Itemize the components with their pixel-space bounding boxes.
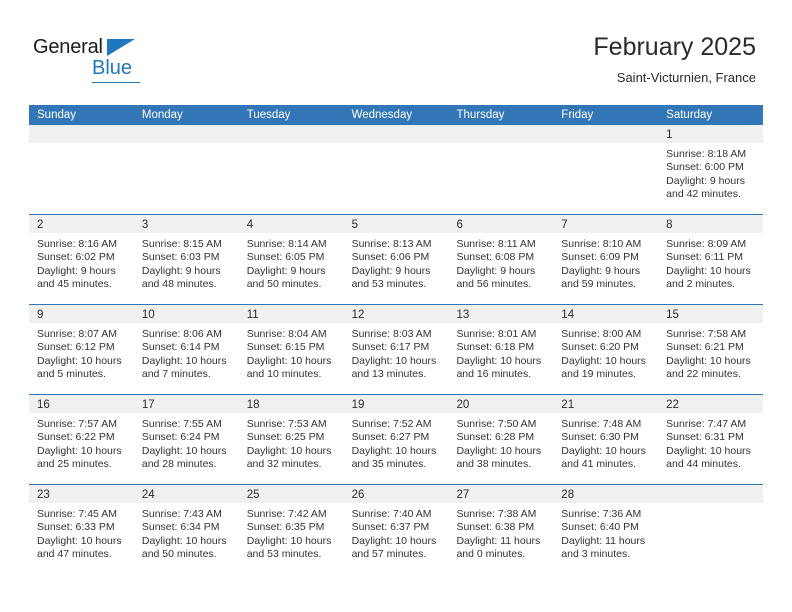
day-number: 26 (352, 489, 365, 501)
sunset-text: Sunset: 6:00 PM (666, 161, 757, 174)
day-sun-info: Sunrise: 7:57 AMSunset: 6:22 PMDaylight:… (29, 413, 134, 472)
day-number: 9 (37, 309, 43, 321)
calendar-day-cell[interactable]: 17Sunrise: 7:55 AMSunset: 6:24 PMDayligh… (134, 395, 239, 484)
calendar-day-cell[interactable]: 15Sunrise: 7:58 AMSunset: 6:21 PMDayligh… (658, 305, 763, 394)
day-number-band: 17 (134, 395, 239, 413)
daylight-text-line2: and 41 minutes. (561, 458, 652, 471)
calendar-weeks: 1Sunrise: 8:18 AMSunset: 6:00 PMDaylight… (29, 125, 763, 574)
daylight-text-line2: and 13 minutes. (352, 368, 443, 381)
calendar-day-cell[interactable]: 25Sunrise: 7:42 AMSunset: 6:35 PMDayligh… (239, 485, 344, 574)
sunset-text: Sunset: 6:09 PM (561, 251, 652, 264)
daylight-text-line1: Daylight: 9 hours (666, 175, 757, 188)
day-sun-info: Sunrise: 7:55 AMSunset: 6:24 PMDaylight:… (134, 413, 239, 472)
day-number-band (134, 125, 239, 143)
day-number-band: 12 (344, 305, 449, 323)
day-number: 16 (37, 399, 50, 411)
daylight-text-line1: Daylight: 10 hours (561, 355, 652, 368)
daylight-text-line1: Daylight: 10 hours (37, 445, 128, 458)
day-sun-info: Sunrise: 7:47 AMSunset: 6:31 PMDaylight:… (658, 413, 763, 472)
day-sun-info: Sunrise: 7:52 AMSunset: 6:27 PMDaylight:… (344, 413, 449, 472)
sunrise-text: Sunrise: 7:50 AM (456, 418, 547, 431)
sunset-text: Sunset: 6:31 PM (666, 431, 757, 444)
daylight-text-line1: Daylight: 11 hours (456, 535, 547, 548)
daylight-text-line2: and 32 minutes. (247, 458, 338, 471)
general-blue-logo[interactable]: General Blue (33, 36, 153, 86)
day-sun-info: Sunrise: 7:50 AMSunset: 6:28 PMDaylight:… (448, 413, 553, 472)
day-number-band: 2 (29, 215, 134, 233)
daylight-text-line2: and 53 minutes. (247, 548, 338, 561)
day-sun-info: Sunrise: 8:03 AMSunset: 6:17 PMDaylight:… (344, 323, 449, 382)
day-number-band: 20 (448, 395, 553, 413)
day-number-band: 8 (658, 215, 763, 233)
day-number-band: 10 (134, 305, 239, 323)
calendar-day-cell[interactable]: 2Sunrise: 8:16 AMSunset: 6:02 PMDaylight… (29, 215, 134, 304)
sunset-text: Sunset: 6:35 PM (247, 521, 338, 534)
day-number: 17 (142, 399, 155, 411)
sunrise-text: Sunrise: 7:42 AM (247, 508, 338, 521)
daylight-text-line2: and 16 minutes. (456, 368, 547, 381)
sunrise-text: Sunrise: 8:06 AM (142, 328, 233, 341)
weekday-header-tuesday: Tuesday (239, 105, 344, 125)
sunset-text: Sunset: 6:28 PM (456, 431, 547, 444)
sunrise-text: Sunrise: 7:48 AM (561, 418, 652, 431)
daylight-text-line2: and 48 minutes. (142, 278, 233, 291)
day-number: 11 (247, 309, 259, 321)
day-sun-info: Sunrise: 7:36 AMSunset: 6:40 PMDaylight:… (553, 503, 658, 562)
calendar-week-row: 9Sunrise: 8:07 AMSunset: 6:12 PMDaylight… (29, 304, 763, 394)
sunrise-text: Sunrise: 7:47 AM (666, 418, 757, 431)
calendar-day-cell[interactable]: 22Sunrise: 7:47 AMSunset: 6:31 PMDayligh… (658, 395, 763, 484)
daylight-text-line1: Daylight: 10 hours (142, 535, 233, 548)
daylight-text-line1: Daylight: 11 hours (561, 535, 652, 548)
day-sun-info: Sunrise: 8:16 AMSunset: 6:02 PMDaylight:… (29, 233, 134, 292)
daylight-text-line2: and 47 minutes. (37, 548, 128, 561)
weekday-header-saturday: Saturday (658, 105, 763, 125)
day-sun-info: Sunrise: 8:00 AMSunset: 6:20 PMDaylight:… (553, 323, 658, 382)
calendar-day-cell[interactable]: 13Sunrise: 8:01 AMSunset: 6:18 PMDayligh… (448, 305, 553, 394)
day-number: 14 (561, 309, 574, 321)
day-sun-info: Sunrise: 7:58 AMSunset: 6:21 PMDaylight:… (658, 323, 763, 382)
day-number-band: 13 (448, 305, 553, 323)
sunrise-text: Sunrise: 8:15 AM (142, 238, 233, 251)
calendar-day-cell[interactable]: 5Sunrise: 8:13 AMSunset: 6:06 PMDaylight… (344, 215, 449, 304)
daylight-text-line1: Daylight: 9 hours (142, 265, 233, 278)
day-number: 6 (456, 219, 462, 231)
daylight-text-line2: and 57 minutes. (352, 548, 443, 561)
day-sun-info: Sunrise: 8:14 AMSunset: 6:05 PMDaylight:… (239, 233, 344, 292)
sunrise-text: Sunrise: 8:07 AM (37, 328, 128, 341)
sunrise-text: Sunrise: 7:55 AM (142, 418, 233, 431)
day-number: 2 (37, 219, 43, 231)
calendar-day-cell[interactable]: 28Sunrise: 7:36 AMSunset: 6:40 PMDayligh… (553, 485, 658, 574)
calendar-day-cell[interactable]: 9Sunrise: 8:07 AMSunset: 6:12 PMDaylight… (29, 305, 134, 394)
logo-word-general: General (33, 36, 103, 59)
daylight-text-line2: and 42 minutes. (666, 188, 757, 201)
daylight-text-line1: Daylight: 10 hours (456, 445, 547, 458)
day-number: 19 (352, 399, 365, 411)
day-sun-info: Sunrise: 7:48 AMSunset: 6:30 PMDaylight:… (553, 413, 658, 472)
sunrise-text: Sunrise: 7:45 AM (37, 508, 128, 521)
daylight-text-line2: and 7 minutes. (142, 368, 233, 381)
daylight-text-line2: and 28 minutes. (142, 458, 233, 471)
day-sun-info: Sunrise: 7:53 AMSunset: 6:25 PMDaylight:… (239, 413, 344, 472)
calendar-day-cell[interactable]: 24Sunrise: 7:43 AMSunset: 6:34 PMDayligh… (134, 485, 239, 574)
day-number-band: 1 (658, 125, 763, 143)
calendar-day-cell[interactable]: 12Sunrise: 8:03 AMSunset: 6:17 PMDayligh… (344, 305, 449, 394)
logo-word-blue: Blue (92, 57, 132, 80)
daylight-text-line2: and 19 minutes. (561, 368, 652, 381)
day-number: 4 (247, 219, 253, 231)
sunset-text: Sunset: 6:14 PM (142, 341, 233, 354)
daylight-text-line1: Daylight: 10 hours (352, 355, 443, 368)
sunset-text: Sunset: 6:22 PM (37, 431, 128, 444)
day-sun-info: Sunrise: 8:04 AMSunset: 6:15 PMDaylight:… (239, 323, 344, 382)
daylight-text-line1: Daylight: 9 hours (456, 265, 547, 278)
daylight-text-line2: and 45 minutes. (37, 278, 128, 291)
daylight-text-line1: Daylight: 10 hours (352, 535, 443, 548)
calendar-page: General Blue February 2025 Saint-Victurn… (0, 0, 792, 612)
daylight-text-line1: Daylight: 10 hours (247, 445, 338, 458)
calendar-day-cell[interactable]: 4Sunrise: 8:14 AMSunset: 6:05 PMDaylight… (239, 215, 344, 304)
sunrise-text: Sunrise: 7:57 AM (37, 418, 128, 431)
calendar-day-cell-empty (239, 125, 344, 214)
calendar-day-cell[interactable]: 7Sunrise: 8:10 AMSunset: 6:09 PMDaylight… (553, 215, 658, 304)
sunset-text: Sunset: 6:27 PM (352, 431, 443, 444)
day-number: 15 (666, 309, 679, 321)
sunrise-text: Sunrise: 8:13 AM (352, 238, 443, 251)
daylight-text-line2: and 38 minutes. (456, 458, 547, 471)
day-number-band (29, 125, 134, 143)
day-number: 8 (666, 219, 672, 231)
daylight-text-line1: Daylight: 10 hours (37, 535, 128, 548)
daylight-text-line1: Daylight: 10 hours (247, 355, 338, 368)
day-number: 20 (456, 399, 469, 411)
day-number: 25 (247, 489, 260, 501)
sunset-text: Sunset: 6:25 PM (247, 431, 338, 444)
daylight-text-line2: and 5 minutes. (37, 368, 128, 381)
daylight-text-line2: and 25 minutes. (37, 458, 128, 471)
sunrise-text: Sunrise: 7:43 AM (142, 508, 233, 521)
calendar-day-cell[interactable]: 10Sunrise: 8:06 AMSunset: 6:14 PMDayligh… (134, 305, 239, 394)
day-number-band: 28 (553, 485, 658, 503)
day-number: 24 (142, 489, 155, 501)
day-number-band: 7 (553, 215, 658, 233)
day-number: 7 (561, 219, 567, 231)
daylight-text-line2: and 53 minutes. (352, 278, 443, 291)
weekday-header-thursday: Thursday (448, 105, 553, 125)
calendar-day-cell[interactable]: 20Sunrise: 7:50 AMSunset: 6:28 PMDayligh… (448, 395, 553, 484)
daylight-text-line1: Daylight: 10 hours (142, 355, 233, 368)
sunset-text: Sunset: 6:02 PM (37, 251, 128, 264)
daylight-text-line1: Daylight: 10 hours (456, 355, 547, 368)
day-number-band: 3 (134, 215, 239, 233)
sunrise-text: Sunrise: 8:16 AM (37, 238, 128, 251)
calendar-week-row: 1Sunrise: 8:18 AMSunset: 6:00 PMDaylight… (29, 125, 763, 214)
weekday-header-friday: Friday (553, 105, 658, 125)
sunrise-text: Sunrise: 8:09 AM (666, 238, 757, 251)
daylight-text-line1: Daylight: 10 hours (561, 445, 652, 458)
day-number-band: 18 (239, 395, 344, 413)
weekday-header-sunday: Sunday (29, 105, 134, 125)
sunset-text: Sunset: 6:15 PM (247, 341, 338, 354)
day-sun-info: Sunrise: 7:43 AMSunset: 6:34 PMDaylight:… (134, 503, 239, 562)
daylight-text-line1: Daylight: 9 hours (352, 265, 443, 278)
calendar-grid: SundayMondayTuesdayWednesdayThursdayFrid… (29, 105, 763, 574)
day-number: 27 (456, 489, 469, 501)
sunset-text: Sunset: 6:06 PM (352, 251, 443, 264)
day-number: 1 (666, 129, 672, 141)
daylight-text-line1: Daylight: 9 hours (561, 265, 652, 278)
day-number: 22 (666, 399, 679, 411)
daylight-text-line1: Daylight: 10 hours (352, 445, 443, 458)
weekday-header-monday: Monday (134, 105, 239, 125)
day-number-band: 4 (239, 215, 344, 233)
calendar-day-cell[interactable]: 11Sunrise: 8:04 AMSunset: 6:15 PMDayligh… (239, 305, 344, 394)
day-number-band (553, 125, 658, 143)
sunrise-text: Sunrise: 7:58 AM (666, 328, 757, 341)
sunset-text: Sunset: 6:08 PM (456, 251, 547, 264)
daylight-text-line2: and 22 minutes. (666, 368, 757, 381)
sunset-text: Sunset: 6:03 PM (142, 251, 233, 264)
sunrise-text: Sunrise: 8:00 AM (561, 328, 652, 341)
sunrise-text: Sunrise: 7:36 AM (561, 508, 652, 521)
daylight-text-line1: Daylight: 10 hours (666, 445, 757, 458)
daylight-text-line2: and 50 minutes. (142, 548, 233, 561)
day-number-band (448, 125, 553, 143)
day-number-band: 24 (134, 485, 239, 503)
sunrise-text: Sunrise: 8:04 AM (247, 328, 338, 341)
day-number-band (344, 125, 449, 143)
day-number: 3 (142, 219, 148, 231)
calendar-day-cell[interactable]: 6Sunrise: 8:11 AMSunset: 6:08 PMDaylight… (448, 215, 553, 304)
day-number-band: 9 (29, 305, 134, 323)
day-number-band: 16 (29, 395, 134, 413)
sunrise-text: Sunrise: 8:18 AM (666, 148, 757, 161)
day-number-band: 15 (658, 305, 763, 323)
daylight-text-line1: Daylight: 9 hours (37, 265, 128, 278)
daylight-text-line2: and 2 minutes. (666, 278, 757, 291)
daylight-text-line2: and 44 minutes. (666, 458, 757, 471)
day-number-band: 21 (553, 395, 658, 413)
daylight-text-line2: and 10 minutes. (247, 368, 338, 381)
weekday-header-row: SundayMondayTuesdayWednesdayThursdayFrid… (29, 105, 763, 125)
title-block: February 2025 Saint-Victurnien, France (593, 32, 756, 88)
calendar-day-cell[interactable]: 14Sunrise: 8:00 AMSunset: 6:20 PMDayligh… (553, 305, 658, 394)
day-sun-info: Sunrise: 8:15 AMSunset: 6:03 PMDaylight:… (134, 233, 239, 292)
sunset-text: Sunset: 6:12 PM (37, 341, 128, 354)
calendar-day-cell-empty (553, 125, 658, 214)
calendar-day-cell[interactable]: 1Sunrise: 8:18 AMSunset: 6:00 PMDaylight… (658, 125, 763, 214)
sunset-text: Sunset: 6:33 PM (37, 521, 128, 534)
day-sun-info: Sunrise: 7:42 AMSunset: 6:35 PMDaylight:… (239, 503, 344, 562)
calendar-day-cell[interactable]: 23Sunrise: 7:45 AMSunset: 6:33 PMDayligh… (29, 485, 134, 574)
sunrise-text: Sunrise: 7:53 AM (247, 418, 338, 431)
day-sun-info: Sunrise: 8:01 AMSunset: 6:18 PMDaylight:… (448, 323, 553, 382)
day-number-band: 26 (344, 485, 449, 503)
day-sun-info: Sunrise: 8:11 AMSunset: 6:08 PMDaylight:… (448, 233, 553, 292)
day-sun-info: Sunrise: 8:06 AMSunset: 6:14 PMDaylight:… (134, 323, 239, 382)
day-sun-info: Sunrise: 8:18 AMSunset: 6:00 PMDaylight:… (658, 143, 763, 202)
day-sun-info: Sunrise: 8:07 AMSunset: 6:12 PMDaylight:… (29, 323, 134, 382)
calendar-day-cell[interactable]: 16Sunrise: 7:57 AMSunset: 6:22 PMDayligh… (29, 395, 134, 484)
day-number-band: 5 (344, 215, 449, 233)
sunset-text: Sunset: 6:11 PM (666, 251, 757, 264)
daylight-text-line2: and 3 minutes. (561, 548, 652, 561)
day-number-band: 23 (29, 485, 134, 503)
day-number-band: 22 (658, 395, 763, 413)
calendar-day-cell-empty (134, 125, 239, 214)
daylight-text-line1: Daylight: 10 hours (666, 265, 757, 278)
day-number-band: 25 (239, 485, 344, 503)
sunset-text: Sunset: 6:21 PM (666, 341, 757, 354)
daylight-text-line1: Daylight: 10 hours (666, 355, 757, 368)
day-sun-info: Sunrise: 8:13 AMSunset: 6:06 PMDaylight:… (344, 233, 449, 292)
sunrise-text: Sunrise: 8:11 AM (456, 238, 547, 251)
calendar-day-cell-empty (448, 125, 553, 214)
day-number-band: 19 (344, 395, 449, 413)
calendar-day-cell-empty (344, 125, 449, 214)
daylight-text-line2: and 50 minutes. (247, 278, 338, 291)
day-sun-info: Sunrise: 7:45 AMSunset: 6:33 PMDaylight:… (29, 503, 134, 562)
sunset-text: Sunset: 6:37 PM (352, 521, 443, 534)
calendar-day-cell[interactable]: 27Sunrise: 7:38 AMSunset: 6:38 PMDayligh… (448, 485, 553, 574)
day-number-band: 27 (448, 485, 553, 503)
day-number: 18 (247, 399, 260, 411)
sunrise-text: Sunrise: 8:03 AM (352, 328, 443, 341)
day-number: 12 (352, 309, 365, 321)
day-number: 23 (37, 489, 50, 501)
calendar-week-row: 2Sunrise: 8:16 AMSunset: 6:02 PMDaylight… (29, 214, 763, 304)
day-number: 28 (561, 489, 574, 501)
day-number: 21 (561, 399, 574, 411)
day-number: 13 (456, 309, 469, 321)
logo-underline (92, 82, 140, 83)
sunset-text: Sunset: 6:24 PM (142, 431, 233, 444)
day-sun-info: Sunrise: 8:10 AMSunset: 6:09 PMDaylight:… (553, 233, 658, 292)
day-sun-info: Sunrise: 7:40 AMSunset: 6:37 PMDaylight:… (344, 503, 449, 562)
day-sun-info: Sunrise: 8:09 AMSunset: 6:11 PMDaylight:… (658, 233, 763, 292)
day-number: 10 (142, 309, 155, 321)
sunset-text: Sunset: 6:05 PM (247, 251, 338, 264)
sunrise-text: Sunrise: 8:10 AM (561, 238, 652, 251)
daylight-text-line1: Daylight: 10 hours (142, 445, 233, 458)
day-number-band: 6 (448, 215, 553, 233)
sunrise-text: Sunrise: 7:52 AM (352, 418, 443, 431)
sunset-text: Sunset: 6:20 PM (561, 341, 652, 354)
day-number-band (239, 125, 344, 143)
daylight-text-line1: Daylight: 10 hours (37, 355, 128, 368)
sunrise-text: Sunrise: 8:14 AM (247, 238, 338, 251)
calendar-day-cell[interactable]: 21Sunrise: 7:48 AMSunset: 6:30 PMDayligh… (553, 395, 658, 484)
day-sun-info: Sunrise: 7:38 AMSunset: 6:38 PMDaylight:… (448, 503, 553, 562)
day-number-band: 14 (553, 305, 658, 323)
calendar-day-cell-empty (29, 125, 134, 214)
day-number: 5 (352, 219, 358, 231)
calendar-day-cell[interactable]: 18Sunrise: 7:53 AMSunset: 6:25 PMDayligh… (239, 395, 344, 484)
sunrise-text: Sunrise: 7:40 AM (352, 508, 443, 521)
calendar-day-cell[interactable]: 26Sunrise: 7:40 AMSunset: 6:37 PMDayligh… (344, 485, 449, 574)
calendar-day-cell[interactable]: 3Sunrise: 8:15 AMSunset: 6:03 PMDaylight… (134, 215, 239, 304)
logo-triangle-icon (107, 39, 135, 56)
day-number-band (658, 485, 763, 503)
page-header: General Blue February 2025 Saint-Victurn… (0, 0, 792, 104)
sunset-text: Sunset: 6:38 PM (456, 521, 547, 534)
sunset-text: Sunset: 6:30 PM (561, 431, 652, 444)
daylight-text-line2: and 35 minutes. (352, 458, 443, 471)
daylight-text-line2: and 56 minutes. (456, 278, 547, 291)
weekday-header-wednesday: Wednesday (344, 105, 449, 125)
calendar-day-cell[interactable]: 8Sunrise: 8:09 AMSunset: 6:11 PMDaylight… (658, 215, 763, 304)
page-title: February 2025 (593, 32, 756, 62)
sunset-text: Sunset: 6:34 PM (142, 521, 233, 534)
sunset-text: Sunset: 6:18 PM (456, 341, 547, 354)
calendar-day-cell-empty (658, 485, 763, 574)
daylight-text-line1: Daylight: 10 hours (247, 535, 338, 548)
day-number-band: 11 (239, 305, 344, 323)
daylight-text-line2: and 0 minutes. (456, 548, 547, 561)
daylight-text-line2: and 59 minutes. (561, 278, 652, 291)
sunset-text: Sunset: 6:40 PM (561, 521, 652, 534)
sunrise-text: Sunrise: 7:38 AM (456, 508, 547, 521)
daylight-text-line1: Daylight: 9 hours (247, 265, 338, 278)
calendar-week-row: 16Sunrise: 7:57 AMSunset: 6:22 PMDayligh… (29, 394, 763, 484)
calendar-week-row: 23Sunrise: 7:45 AMSunset: 6:33 PMDayligh… (29, 484, 763, 574)
page-subtitle: Saint-Victurnien, France (593, 68, 756, 88)
sunrise-text: Sunrise: 8:01 AM (456, 328, 547, 341)
calendar-day-cell[interactable]: 19Sunrise: 7:52 AMSunset: 6:27 PMDayligh… (344, 395, 449, 484)
sunset-text: Sunset: 6:17 PM (352, 341, 443, 354)
